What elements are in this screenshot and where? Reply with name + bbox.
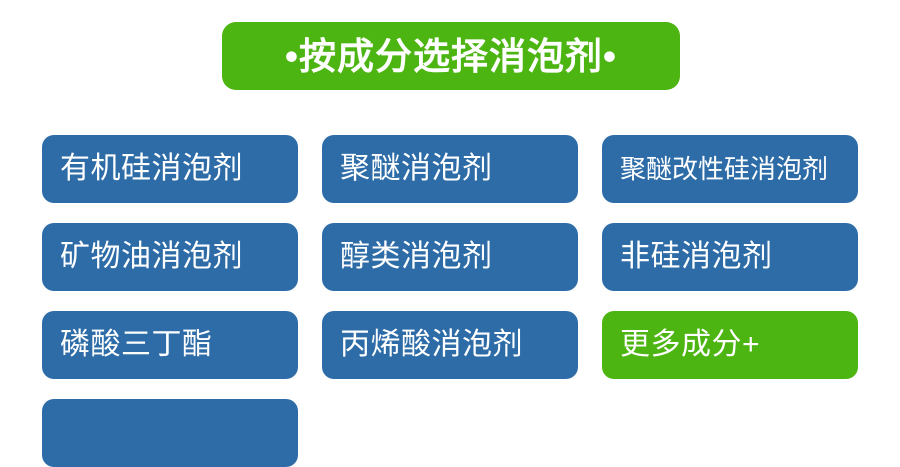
category-button-label: 聚醚消泡剂 — [340, 154, 493, 184]
category-button-label: 醇类消泡剂 — [340, 242, 493, 272]
category-button-label: 有机硅消泡剂 — [60, 154, 243, 184]
category-button-mineral-oil[interactable]: 矿物油消泡剂 — [42, 223, 298, 291]
category-button-label: 磷酸三丁酯 — [60, 330, 213, 360]
category-button-more-ingredients[interactable]: 更多成分+ — [602, 311, 858, 379]
category-button-partial[interactable] — [42, 399, 298, 467]
category-button-non-silicone[interactable]: 非硅消泡剂 — [602, 223, 858, 291]
category-row: 磷酸三丁酯 丙烯酸消泡剂 更多成分+ — [42, 311, 858, 379]
category-button-label: 矿物油消泡剂 — [60, 242, 243, 272]
category-row-partial — [42, 399, 858, 467]
category-row: 有机硅消泡剂 聚醚消泡剂 聚醚改性硅消泡剂 — [42, 135, 858, 203]
category-button-label: 更多成分+ — [620, 330, 760, 360]
category-button-label: 聚醚改性硅消泡剂 — [620, 156, 828, 182]
page-title-banner: •按成分选择消泡剂• — [222, 22, 680, 90]
category-button-label: 非硅消泡剂 — [620, 242, 773, 272]
page-title: •按成分选择消泡剂• — [285, 38, 617, 75]
defoamer-category-grid: 有机硅消泡剂 聚醚消泡剂 聚醚改性硅消泡剂 矿物油消泡剂 醇类消泡剂 非硅消泡剂 — [42, 135, 858, 467]
category-button-organosilicon[interactable]: 有机硅消泡剂 — [42, 135, 298, 203]
category-button-acrylic[interactable]: 丙烯酸消泡剂 — [322, 311, 578, 379]
category-button-label: 丙烯酸消泡剂 — [340, 330, 523, 360]
category-button-alcohol[interactable]: 醇类消泡剂 — [322, 223, 578, 291]
category-button-tributyl-phosphate[interactable]: 磷酸三丁酯 — [42, 311, 298, 379]
category-button-polyether-modified-silicone[interactable]: 聚醚改性硅消泡剂 — [602, 135, 858, 203]
category-row: 矿物油消泡剂 醇类消泡剂 非硅消泡剂 — [42, 223, 858, 291]
category-button-polyether[interactable]: 聚醚消泡剂 — [322, 135, 578, 203]
page-root: •按成分选择消泡剂• 有机硅消泡剂 聚醚消泡剂 聚醚改性硅消泡剂 矿物油消泡剂 … — [0, 0, 900, 410]
